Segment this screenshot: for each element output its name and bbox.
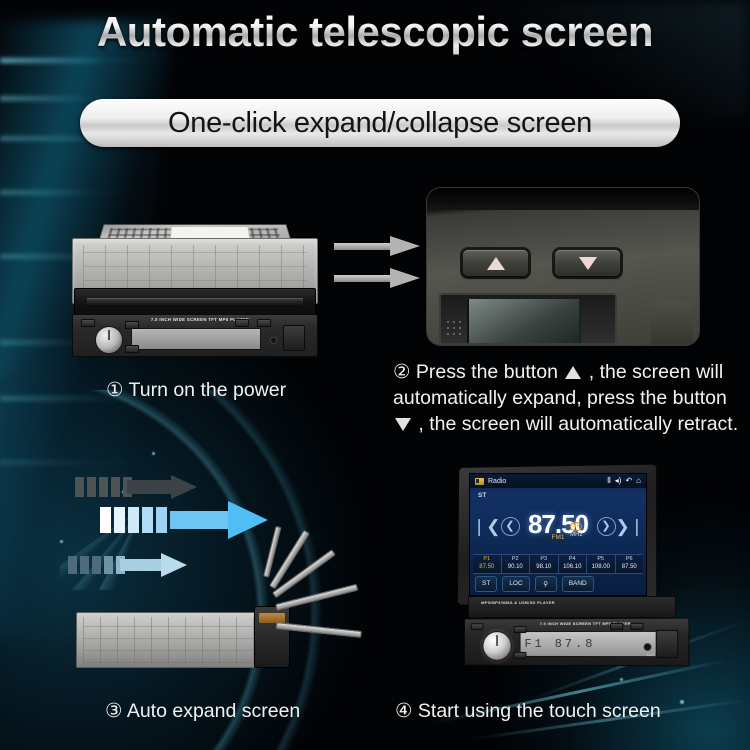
unit-front-panel: 7.0 INCH WIDE SCREEN TFT MP5 PLAYER F1 8… <box>464 618 690 667</box>
up-triangle-icon <box>565 366 581 379</box>
next-station-button[interactable]: ❯❘ <box>616 518 645 535</box>
caption-step-4: ④ Start using the touch screen <box>395 698 661 724</box>
eject-button[interactable] <box>656 630 679 658</box>
search-icon[interactable]: ⚲ <box>535 576 557 592</box>
rear-cover-text: MP5/MP3/WMA & USB/SD PLAYER <box>481 600 555 605</box>
preset-name: P2 <box>502 556 530 563</box>
prev-station-button[interactable]: ❘❮ <box>472 518 501 535</box>
stereo-badge: ST <box>570 522 582 531</box>
radio-icon <box>475 478 484 485</box>
unit-lcd: F1 87.8 <box>520 631 658 657</box>
lcd-text: F1 87.8 <box>524 637 595 651</box>
panel-button[interactable] <box>125 345 139 353</box>
aux-label: AUX <box>647 653 654 657</box>
panel-button[interactable] <box>630 623 643 630</box>
frequency-unit-group: ST MHz <box>570 514 582 538</box>
caption-step-2: ② Press the button , the screen will aut… <box>393 359 741 437</box>
preset-name: P4 <box>559 556 587 563</box>
band-button[interactable]: BAND <box>562 576 594 592</box>
panel-button[interactable] <box>235 319 249 327</box>
preset-value: 90.10 <box>502 563 530 571</box>
panel-button[interactable] <box>257 319 271 327</box>
subtitle-pill: One-click expand/collapse screen <box>80 99 680 147</box>
down-triangle-icon <box>395 418 411 431</box>
expand-arrow-gray-icon <box>75 477 225 497</box>
unit-lcd <box>131 328 261 350</box>
preset-button-2[interactable]: P2 90.10 <box>502 555 531 573</box>
panel-shadow-top <box>427 188 699 210</box>
stereo-unit-open-photo: MP5/MP3/WMA & USB/SD PLAYER 7.0 INCH WID… <box>462 596 688 672</box>
up-triangle-icon <box>487 257 505 270</box>
frequency-display: 87.50 FM1 ST MHz <box>520 512 597 541</box>
speaker-icon[interactable]: ◂) <box>615 477 622 485</box>
step-2-text-1: Press the button <box>416 361 558 383</box>
background-dot <box>152 452 155 455</box>
screen-rear-cover: MP5/MP3/WMA & USB/SD PLAYER <box>468 596 676 618</box>
preset-value: 108.00 <box>587 563 615 571</box>
flow-arrow-icon <box>334 270 426 286</box>
page-title: Automatic telescopic screen <box>0 8 750 56</box>
source-label: Radio <box>488 478 603 485</box>
panel-button[interactable] <box>471 623 484 630</box>
radio-ui-screen: Radio ⦀ ◂) ↶ ⌂ ST ❘❮ ❮ 87.50 FM1 ST MHz <box>469 473 647 596</box>
stereo-unit-closed-photo: 7.0 INCH WIDE SCREEN TFT MP5 PLAYER <box>72 192 318 357</box>
preset-button-4[interactable]: P4 106.10 <box>559 555 588 573</box>
st-button[interactable]: ST <box>475 576 497 592</box>
front-panel-text: 7.0 INCH WIDE SCREEN TFT MP5 PLAYER <box>525 621 645 626</box>
eject-button[interactable] <box>283 325 305 351</box>
preset-value: 106.10 <box>559 563 587 571</box>
aux-port <box>270 337 277 344</box>
unit-front-panel: 7.0 INCH WIDE SCREEN TFT MP5 PLAYER <box>72 314 318 357</box>
chassis-body <box>76 612 266 668</box>
volume-knob[interactable] <box>95 326 123 354</box>
flow-arrows-group <box>334 238 426 294</box>
preset-name: P6 <box>616 556 644 563</box>
tuner-main-row: ❘❮ ❮ 87.50 FM1 ST MHz ❯ ❯❘ <box>470 500 646 552</box>
background-dot <box>620 678 623 681</box>
panel-button[interactable] <box>610 623 623 630</box>
panel-button[interactable] <box>514 652 527 659</box>
expand-arrow-lightblue-icon <box>68 556 218 574</box>
stereo-chassis-exploded-photo <box>76 596 376 676</box>
volume-knob[interactable] <box>482 631 511 661</box>
preset-value: 87.50 <box>473 563 501 571</box>
tft-touchscreen-photo: Radio ⦀ ◂) ↶ ⌂ ST ❘❮ ❮ 87.50 FM1 ST MHz <box>455 466 655 606</box>
preset-row: P1 87.50 P2 90.10 P3 98.10 P4 106.10 P5 <box>473 554 643 574</box>
tune-down-button[interactable]: ❮ <box>501 517 520 536</box>
preset-value: 87.50 <box>616 563 644 571</box>
control-button-row: ST LOC ⚲ BAND <box>475 576 594 592</box>
preset-button-1[interactable]: P1 87.50 <box>473 555 502 573</box>
background-dot <box>60 540 63 543</box>
step-2-number: ② <box>393 359 410 385</box>
caption-step-1: ① Turn on the power <box>106 377 286 403</box>
aux-port <box>643 643 651 651</box>
down-triangle-icon <box>579 257 597 270</box>
expand-arrow-blue-icon <box>100 507 275 533</box>
background-dot <box>680 700 684 704</box>
speaker-grille-dots <box>445 319 465 337</box>
panel-button[interactable] <box>514 626 527 633</box>
preset-name: P5 <box>587 556 615 563</box>
subtitle-text: One-click expand/collapse screen <box>168 107 592 140</box>
flow-arrow-icon <box>334 238 426 254</box>
frequency-value: 87.50 <box>520 512 597 536</box>
infographic-canvas: Automatic telescopic screen One-click ex… <box>0 0 750 750</box>
back-icon[interactable]: ↶ <box>625 477 632 485</box>
preset-button-3[interactable]: P3 98.10 <box>530 555 559 573</box>
preset-button-5[interactable]: P5 108.00 <box>587 555 616 573</box>
step-2-text-3: , the screen will automatically retract. <box>418 413 738 435</box>
caption-step-3: ③ Auto expand screen <box>105 698 300 724</box>
preset-name: P1 <box>473 556 501 563</box>
dash-screen-area <box>439 293 617 345</box>
panel-button[interactable] <box>125 321 139 329</box>
panel-side-trim <box>651 301 693 345</box>
status-bar: Radio ⦀ ◂) ↶ ⌂ <box>470 474 646 488</box>
screen-up-button[interactable] <box>463 250 528 276</box>
preset-button-6[interactable]: P6 87.50 <box>616 555 644 573</box>
equalizer-icon[interactable]: ⦀ <box>607 477 611 485</box>
dash-button-panel-photo <box>427 188 699 345</box>
panel-button[interactable] <box>81 319 95 327</box>
screen-down-button[interactable] <box>555 250 620 276</box>
preset-name: P3 <box>530 556 558 563</box>
tune-up-button[interactable]: ❯ <box>597 517 616 536</box>
loc-button[interactable]: LOC <box>502 576 529 592</box>
preset-value: 98.10 <box>530 563 558 571</box>
screen-drive-module <box>254 606 290 668</box>
frequency-unit: MHz <box>570 532 582 538</box>
stereo-indicator: ST <box>478 492 486 499</box>
home-icon[interactable]: ⌂ <box>636 477 641 485</box>
